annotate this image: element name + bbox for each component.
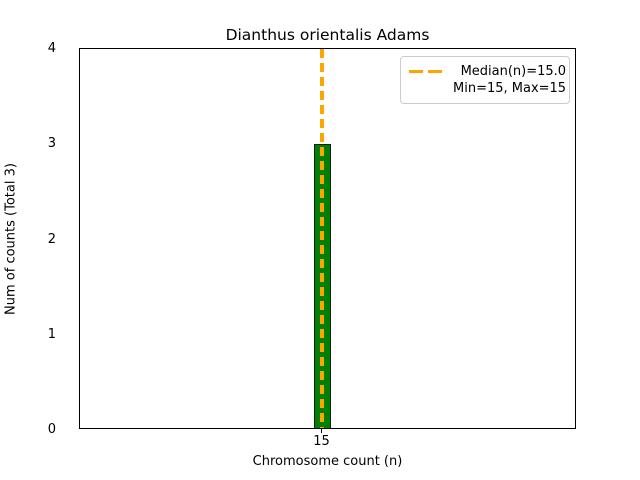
y-tick-label-2: 2 — [16, 233, 56, 246]
y-tick-label-3: 3 — [16, 137, 56, 150]
median-line — [320, 49, 323, 428]
plot-inner — [80, 49, 575, 428]
x-axis-label: Chromosome count (n) — [79, 454, 576, 469]
chart-title: Dianthus orientalis Adams — [79, 26, 576, 44]
legend-text-block: Median(n)=15.0 Min=15, Max=15 — [453, 63, 566, 97]
y-tick-label-0: 0 — [16, 423, 56, 436]
legend: Median(n)=15.0 Min=15, Max=15 — [400, 56, 570, 104]
x-tick-label-15: 15 — [292, 435, 352, 449]
y-tick-label-4: 4 — [16, 42, 56, 55]
legend-dash-segment-1 — [409, 70, 423, 73]
y-tick-label-1: 1 — [16, 328, 56, 341]
plot-area — [79, 48, 576, 429]
x-tick-mark-15 — [321, 429, 322, 433]
chart-figure: Dianthus orientalis Adams Num of counts … — [0, 0, 640, 480]
legend-label-range: Min=15, Max=15 — [453, 80, 566, 97]
legend-handle-median-line — [409, 63, 445, 80]
legend-dash-segment-2 — [428, 70, 442, 73]
legend-label-median: Median(n)=15.0 — [453, 63, 566, 80]
